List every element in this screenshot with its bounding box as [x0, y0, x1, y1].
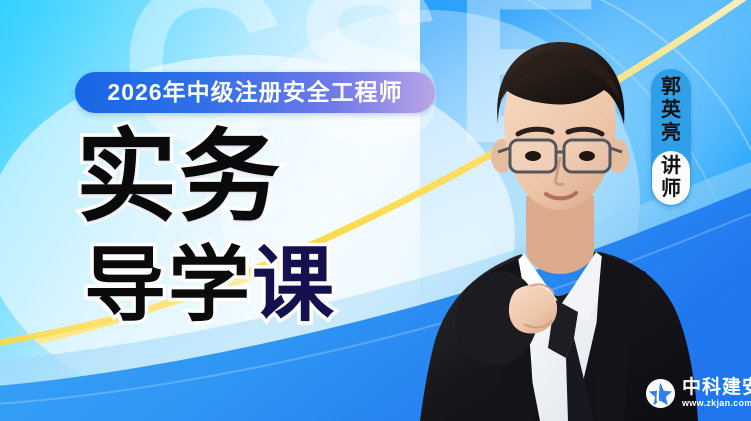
instructor-name-char-1: 郭 — [651, 76, 691, 99]
logo-url: www.zkjan.com — [682, 398, 751, 409]
star-circle-icon — [645, 378, 676, 409]
logo-name: 中科建安 — [682, 378, 751, 398]
course-badge: 2026年中级注册安全工程师 — [75, 72, 435, 113]
course-banner: CSE — [0, 0, 751, 421]
instructor-role-char-2: 师 — [661, 178, 681, 201]
instructor-name-char-3: 亮 — [651, 122, 691, 145]
brand-logo: 中科建安 www.zkjan.com — [645, 378, 751, 409]
badge-label: 2026年中级注册安全工程师 — [107, 81, 402, 104]
page-subtitle: 导学课 — [84, 245, 336, 327]
page-title: 实务 — [76, 128, 282, 229]
instructor-name-pill: 郭 英 亮 讲 师 — [651, 69, 691, 206]
logo-text-group: 中科建安 www.zkjan.com — [682, 378, 751, 409]
instructor-name-char-2: 英 — [651, 99, 691, 122]
instructor-role: 讲 师 — [652, 151, 690, 205]
instructor-role-char-1: 讲 — [661, 155, 681, 178]
subtitle-prefix: 导学 — [84, 240, 252, 331]
subtitle-accent: 课 — [252, 240, 336, 331]
instructor-name: 郭 英 亮 — [651, 76, 691, 145]
